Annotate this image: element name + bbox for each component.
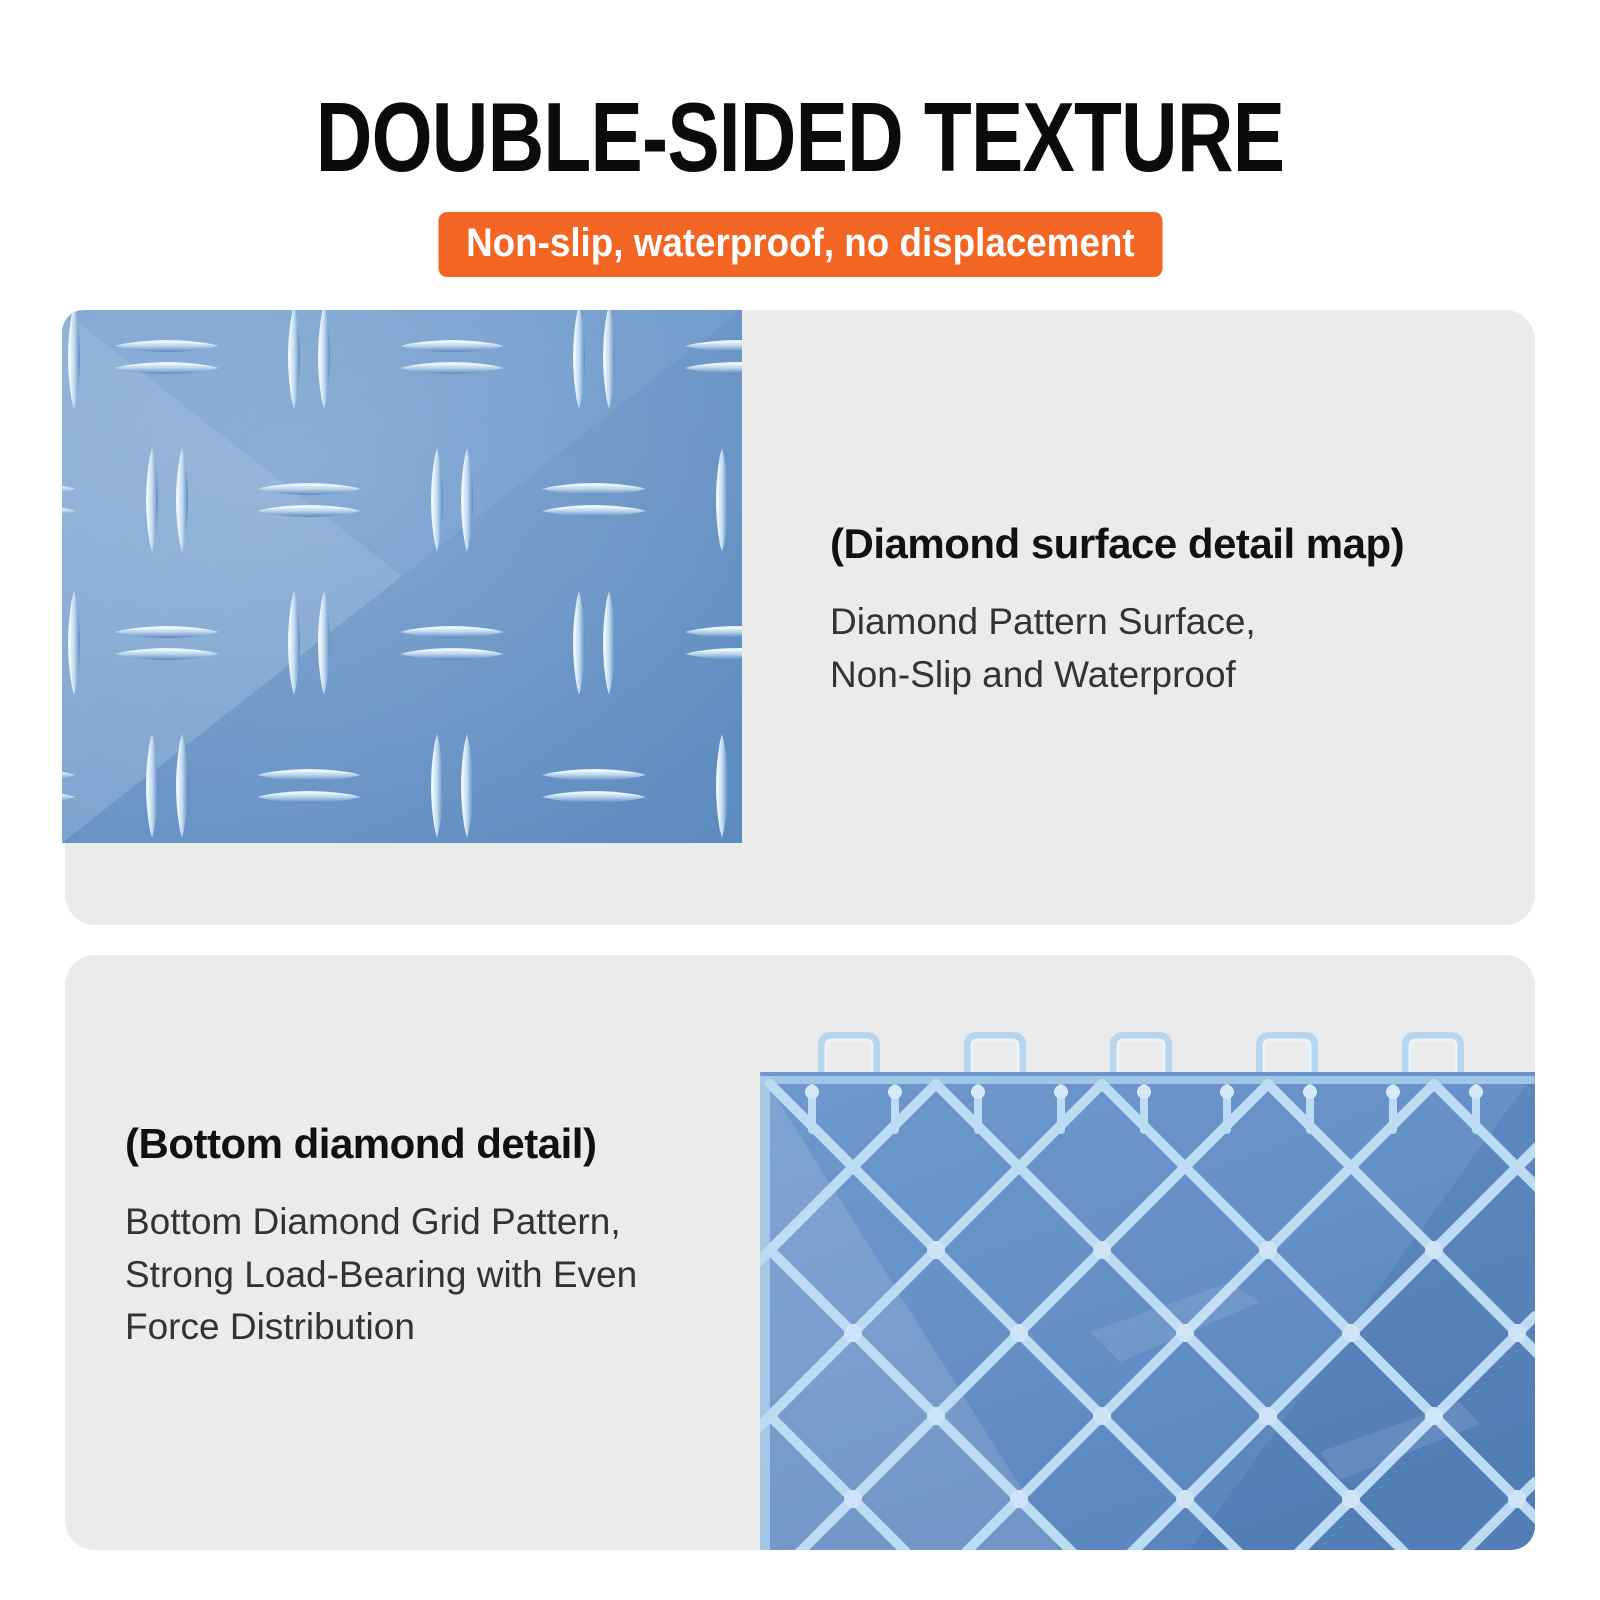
description-line-3: Force Distribution [125,1301,745,1354]
tile-surface [62,310,742,843]
description-line-2: Non-Slip and Waterproof [830,649,1490,702]
diamond-surface-caption: (Diamond surface detail map) [830,520,1490,568]
description-line-1: Diamond Pattern Surface, [830,596,1490,649]
description-line-2: Strong Load-Bearing with Even [125,1249,745,1302]
tile-underside-structure [760,1072,1535,1550]
header: DOUBLE-SIDED TEXTURE Non-slip, waterproo… [0,0,1600,277]
bottom-grid-description: Bottom Diamond Grid Pattern, Strong Load… [125,1196,745,1354]
diamond-surface-description: Diamond Pattern Surface, Non-Slip and Wa… [830,596,1490,701]
subtitle-badge: Non-slip, waterproof, no displacement [438,212,1162,277]
badge-container: Non-slip, waterproof, no displacement [0,212,1600,277]
diamond-grid-tile-image [760,1032,1535,1550]
bottom-grid-text-block: (Bottom diamond detail) Bottom Diamond G… [125,1120,745,1354]
page-title: DOUBLE-SIDED TEXTURE [160,88,1440,186]
diamond-plate-tile-image [62,310,742,843]
diamond-surface-text-block: (Diamond surface detail map) Diamond Pat… [830,520,1490,701]
bottom-grid-caption: (Bottom diamond detail) [125,1120,745,1168]
description-line-1: Bottom Diamond Grid Pattern, [125,1196,745,1249]
